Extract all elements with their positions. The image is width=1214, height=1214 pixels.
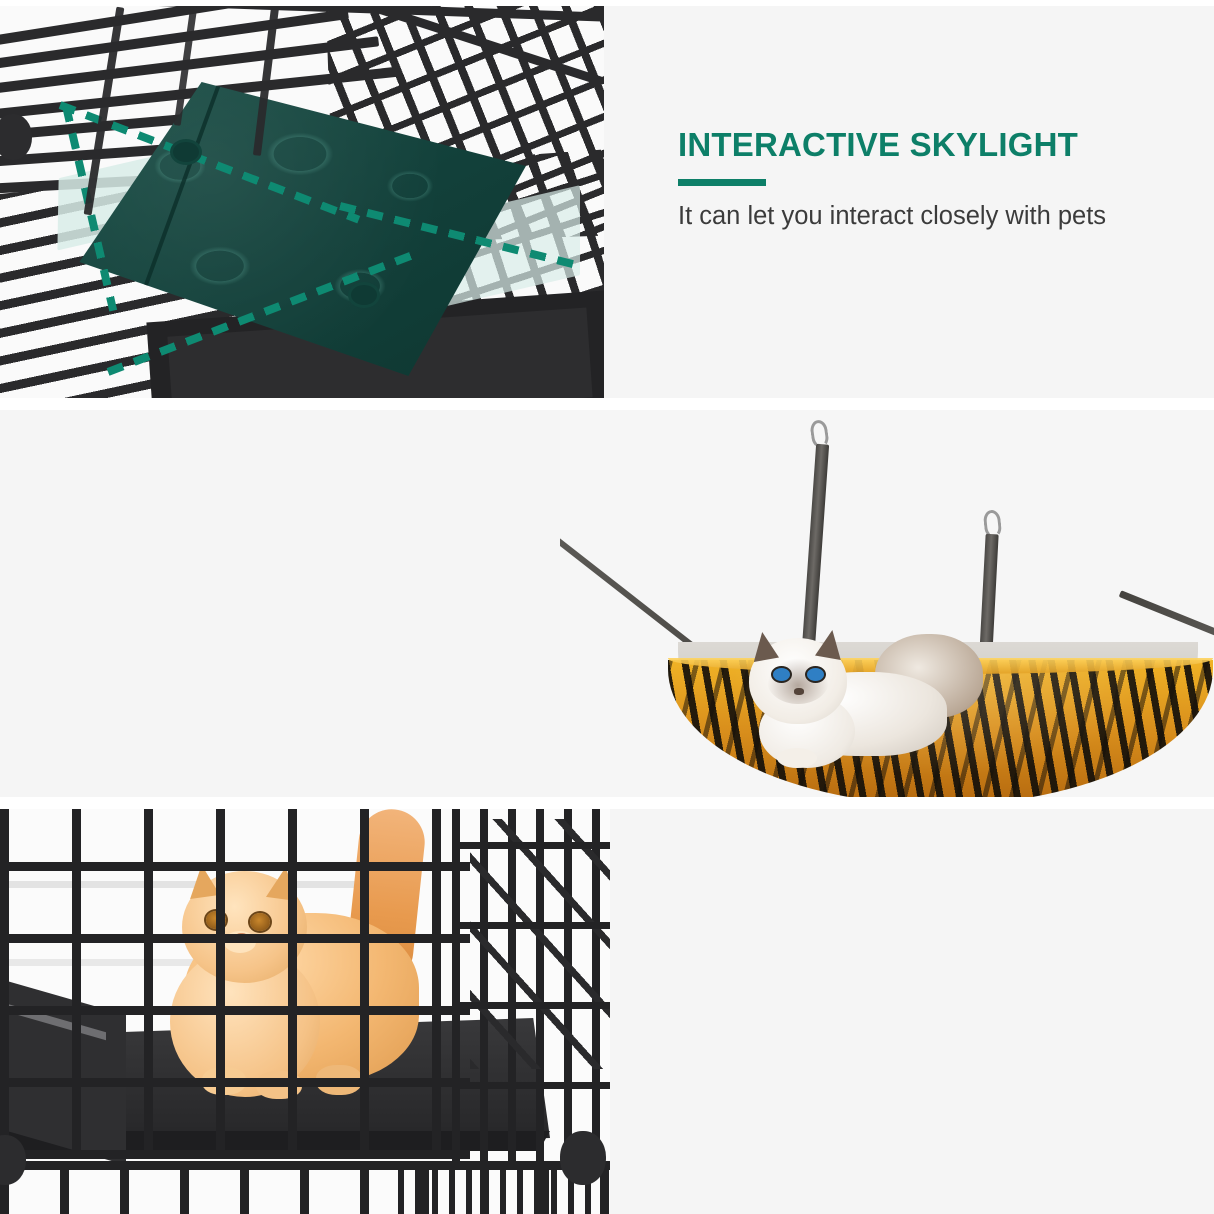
panel-1-headline: INTERACTIVE SKYLIGHT (678, 127, 1188, 163)
infographic-page: INTERACTIVE SKYLIGHT It can let you inte… (0, 0, 1214, 1214)
caster-wheel-right (560, 1131, 606, 1185)
feature-panel-skylight: INTERACTIVE SKYLIGHT It can let you inte… (0, 6, 1214, 398)
feature-panel-platform: UPGRADED PLATFORM Smooth platform design… (0, 809, 1214, 1214)
cage-top-skylight-photo (0, 6, 604, 398)
cage-front-grid (0, 809, 470, 1159)
skylight-clip (348, 282, 380, 308)
cat-paws (777, 748, 817, 768)
skylight-copy-block: INTERACTIVE SKYLIGHT It can let you inte… (678, 127, 1188, 233)
orange-persian-on-platform-photo (0, 809, 610, 1214)
panel-1-accent-bar (678, 179, 766, 186)
tiger-print-hammock-photo (560, 410, 1214, 797)
cat-face-mask (767, 658, 829, 704)
cat-nose (794, 688, 804, 695)
himalayan-cat (715, 608, 985, 778)
cage-side-rails (452, 809, 610, 1169)
cage-top-illustration (0, 6, 604, 398)
panel-1-body: It can let you interact closely with pet… (678, 200, 1188, 234)
cat-eye-right (807, 668, 824, 681)
feature-panel-hammocks: FREE HAMMOCKS You can avoid the trouble … (0, 410, 1214, 797)
cat-eye-left (773, 668, 790, 681)
skylight-clip (170, 139, 202, 165)
